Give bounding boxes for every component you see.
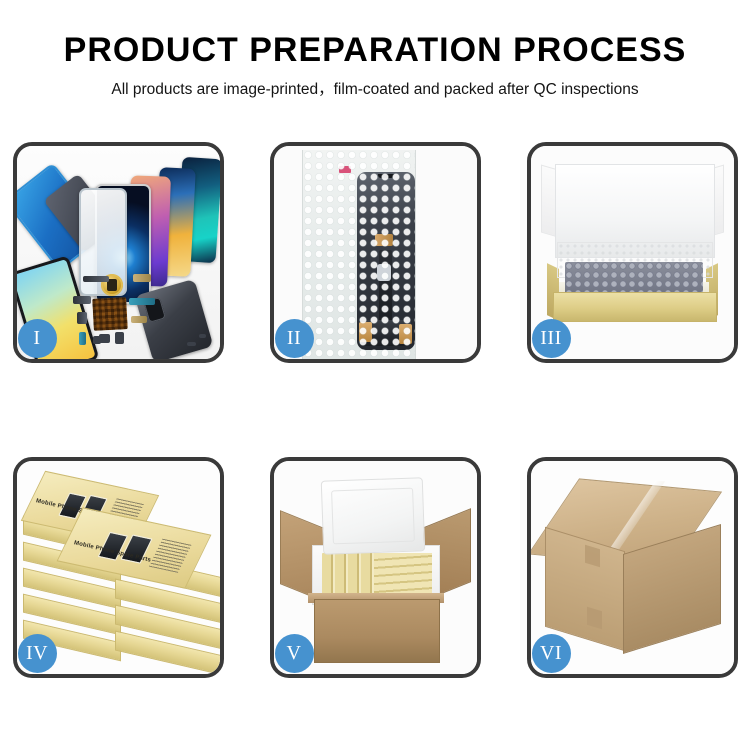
page-header: PRODUCT PREPARATION PROCESS All products… — [0, 0, 750, 101]
step-badge-4: IV — [18, 634, 57, 673]
step-panel-5[interactable]: V — [270, 457, 481, 678]
page-subtitle: All products are image-printed，film-coat… — [0, 79, 750, 101]
step-panel-6[interactable]: VI — [527, 457, 738, 678]
step-badge-2: II — [275, 319, 314, 358]
step-badge-1: I — [18, 319, 57, 358]
step-badge-3: III — [532, 319, 571, 358]
step-badge-6: VI — [532, 634, 571, 673]
page-title: PRODUCT PREPARATION PROCESS — [0, 30, 750, 70]
step-panel-2[interactable]: II — [270, 142, 481, 363]
step-panel-3[interactable]: III — [527, 142, 738, 363]
step-panel-4[interactable]: Mobile Phone Spare Parts Mobile Phone Sp… — [13, 457, 224, 678]
step-badge-5: V — [275, 634, 314, 673]
step-panel-1[interactable]: I — [13, 142, 224, 363]
process-steps-grid: I II — [0, 142, 750, 678]
